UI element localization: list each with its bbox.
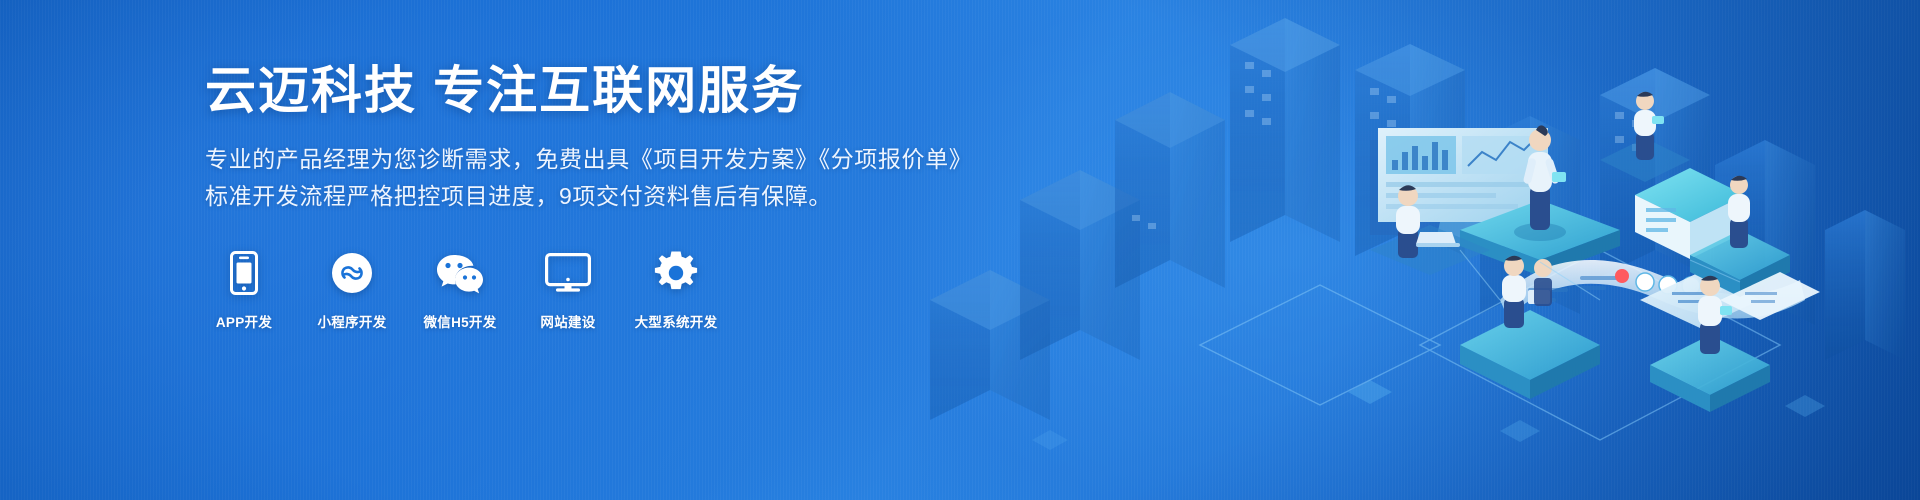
promo-banner: 云迈科技 专注互联网服务 专业的产品经理为您诊断需求，免费出具《项目开发方案》《… bbox=[0, 0, 1920, 500]
mobile-phone-icon bbox=[230, 248, 258, 298]
subtitle-line-1: 专业的产品经理为您诊断需求，免费出具《项目开发方案》《分项报价单》 bbox=[205, 141, 905, 178]
monitor-icon bbox=[545, 248, 591, 298]
service-item-miniprogram[interactable]: 小程序开发 bbox=[313, 248, 391, 331]
hero-illustration bbox=[900, 0, 1920, 500]
service-label-wechat: 微信H5开发 bbox=[423, 311, 496, 331]
banner-content: 云迈科技 专注互联网服务 专业的产品经理为您诊断需求，免费出具《项目开发方案》《… bbox=[205, 62, 905, 331]
wechat-icon bbox=[436, 248, 484, 298]
service-item-app[interactable]: APP开发 bbox=[205, 248, 283, 331]
service-item-website[interactable]: 网站建设 bbox=[529, 248, 607, 331]
service-label-app: APP开发 bbox=[216, 311, 272, 331]
service-label-system: 大型系统开发 bbox=[635, 311, 718, 331]
banner-headline: 云迈科技 专注互联网服务 bbox=[205, 62, 905, 119]
service-list: APP开发 小程序开发 bbox=[205, 248, 905, 331]
service-item-system[interactable]: 大型系统开发 bbox=[637, 248, 715, 331]
mini-program-icon bbox=[331, 248, 373, 298]
subtitle-line-2: 标准开发流程严格把控项目进度，9项交付资料售后有保障。 bbox=[205, 178, 905, 215]
service-label-website: 网站建设 bbox=[540, 311, 595, 331]
gear-icon bbox=[654, 248, 698, 298]
service-item-wechat[interactable]: 微信H5开发 bbox=[421, 248, 499, 331]
service-label-miniprogram: 小程序开发 bbox=[318, 311, 387, 331]
banner-subtitle: 专业的产品经理为您诊断需求，免费出具《项目开发方案》《分项报价单》 标准开发流程… bbox=[205, 141, 905, 216]
